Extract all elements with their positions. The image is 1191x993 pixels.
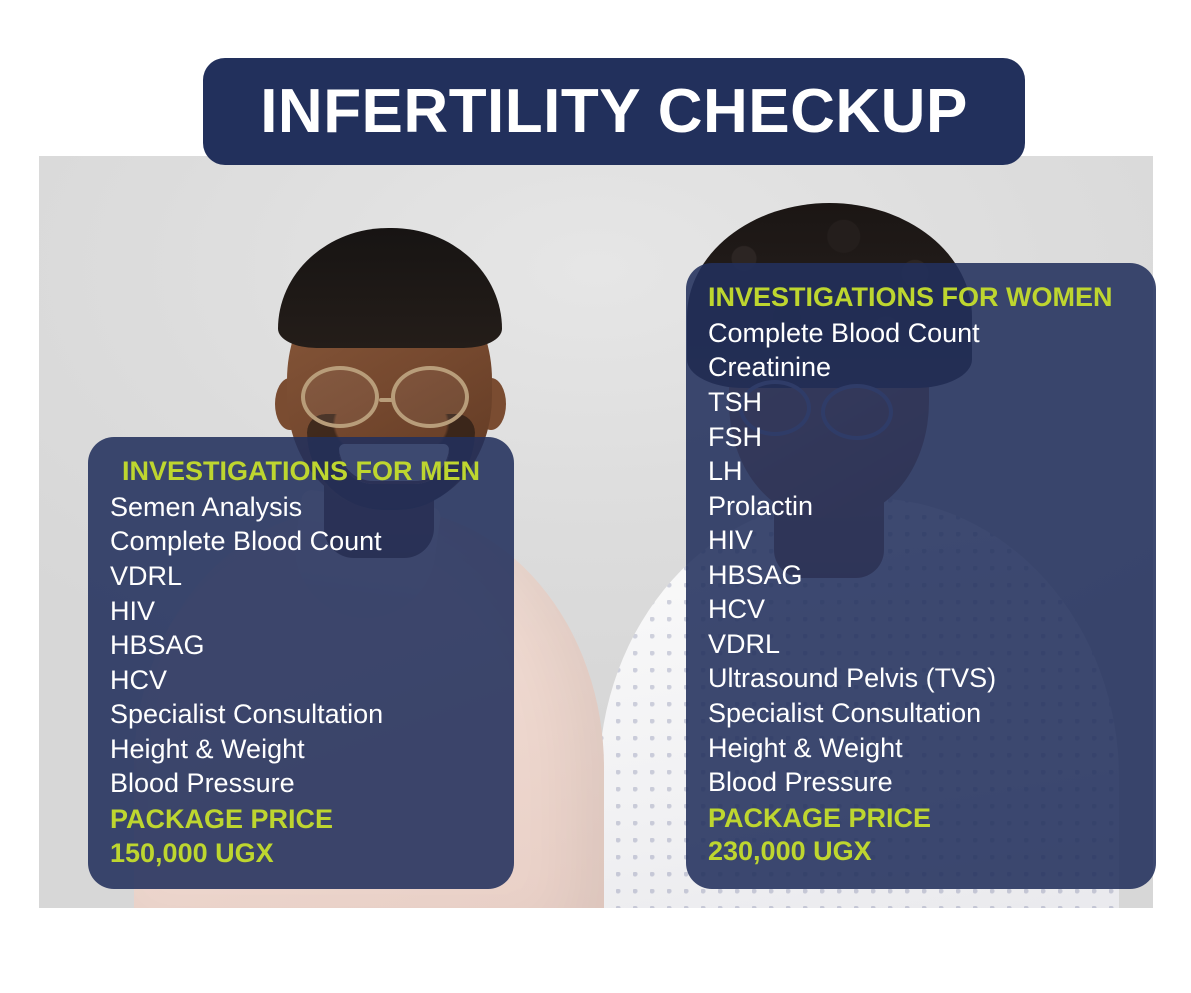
list-item: Complete Blood Count (110, 524, 492, 559)
panel-women-list: Complete Blood Count Creatinine TSH FSH … (708, 316, 1134, 800)
list-item: Prolactin (708, 489, 1134, 524)
list-item: Creatinine (708, 350, 1134, 385)
list-item: FSH (708, 420, 1134, 455)
poster-root: INFERTILITY CHECKUP INVESTIGATIONS FOR M… (0, 0, 1191, 993)
panel-women-heading: INVESTIGATIONS FOR WOMEN (708, 281, 1134, 314)
man-eyeglass-right (391, 366, 469, 428)
price-value: 150,000 UGX (110, 837, 492, 871)
list-item: VDRL (708, 627, 1134, 662)
panel-men-heading: INVESTIGATIONS FOR MEN (110, 455, 492, 488)
man-eyeglass-bridge (379, 398, 393, 402)
list-item: Height & Weight (110, 732, 492, 767)
page-title: INFERTILITY CHECKUP (260, 81, 968, 143)
panel-women-price: PACKAGE PRICE 230,000 UGX (708, 802, 1134, 870)
list-item: Specialist Consultation (110, 697, 492, 732)
panel-investigations-men: INVESTIGATIONS FOR MEN Semen Analysis Co… (88, 437, 514, 889)
list-item: HCV (708, 592, 1134, 627)
man-eyeglass-left (301, 366, 379, 428)
list-item: Specialist Consultation (708, 696, 1134, 731)
list-item: Ultrasound Pelvis (TVS) (708, 661, 1134, 696)
panel-men-list: Semen Analysis Complete Blood Count VDRL… (110, 490, 492, 801)
list-item: HIV (708, 523, 1134, 558)
list-item: Semen Analysis (110, 490, 492, 525)
list-item: VDRL (110, 559, 492, 594)
list-item: TSH (708, 385, 1134, 420)
list-item: Complete Blood Count (708, 316, 1134, 351)
list-item: LH (708, 454, 1134, 489)
title-banner: INFERTILITY CHECKUP (203, 58, 1025, 165)
list-item: Blood Pressure (708, 765, 1134, 800)
price-value: 230,000 UGX (708, 835, 1134, 869)
panel-investigations-women: INVESTIGATIONS FOR WOMEN Complete Blood … (686, 263, 1156, 889)
price-label: PACKAGE PRICE (708, 802, 1134, 836)
list-item: HBSAG (708, 558, 1134, 593)
list-item: HIV (110, 594, 492, 629)
list-item: HBSAG (110, 628, 492, 663)
price-label: PACKAGE PRICE (110, 803, 492, 837)
list-item: HCV (110, 663, 492, 698)
list-item: Height & Weight (708, 731, 1134, 766)
panel-men-price: PACKAGE PRICE 150,000 UGX (110, 803, 492, 871)
list-item: Blood Pressure (110, 766, 492, 801)
